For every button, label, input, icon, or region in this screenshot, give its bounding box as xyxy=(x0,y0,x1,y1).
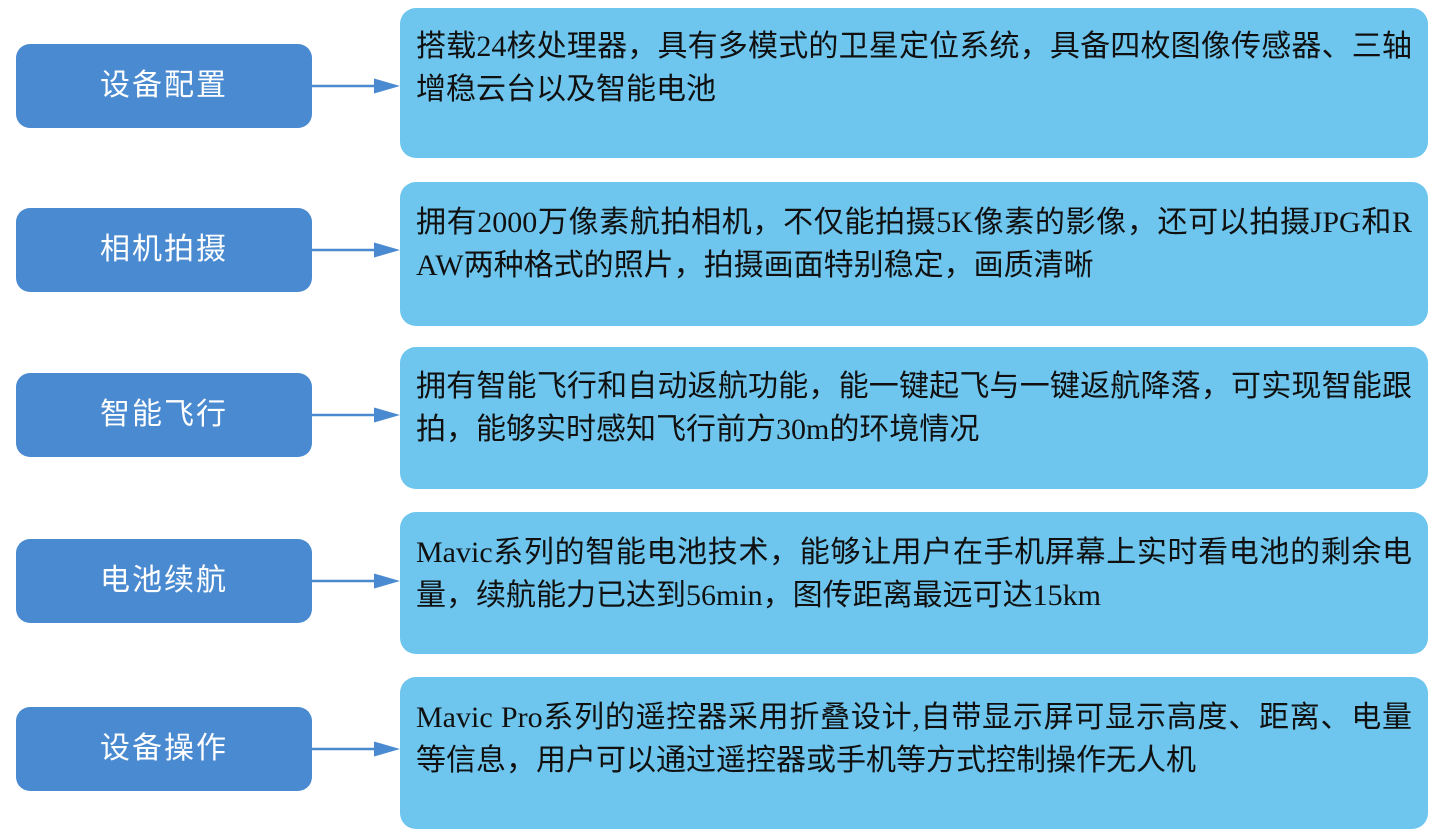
label-box-camera-shooting[interactable]: 相机拍摄 xyxy=(16,208,312,292)
content-box: 拥有智能飞行和自动返航功能，能一键起飞与一键返航降落，可实现智能跟拍，能够实时感… xyxy=(400,347,1428,489)
content-text: 拥有2000万像素航拍相机，不仅能拍摄5K像素的影像，还可以拍摄JPG和RAW两… xyxy=(416,202,1412,287)
content-box: Mavic系列的智能电池技术，能够让用户在手机屏幕上实时看电池的剩余电量，续航能… xyxy=(400,512,1428,654)
label-box-device-configuration[interactable]: 设备配置 xyxy=(16,44,312,128)
content-text: Mavic Pro系列的遥控器采用折叠设计,自带显示屏可显示高度、距离、电量等信… xyxy=(416,697,1412,782)
arrow-connector-icon xyxy=(312,239,400,261)
arrow-connector-icon xyxy=(312,570,400,592)
label-text: 相机拍摄 xyxy=(100,235,228,265)
content-text: Mavic系列的智能电池技术，能够让用户在手机屏幕上实时看电池的剩余电量，续航能… xyxy=(416,532,1412,617)
content-box: 拥有2000万像素航拍相机，不仅能拍摄5K像素的影像，还可以拍摄JPG和RAW两… xyxy=(400,182,1428,326)
content-box: Mavic Pro系列的遥控器采用折叠设计,自带显示屏可显示高度、距离、电量等信… xyxy=(400,677,1428,829)
label-box-device-operation[interactable]: 设备操作 xyxy=(16,707,312,791)
content-text: 拥有智能飞行和自动返航功能，能一键起飞与一键返航降落，可实现智能跟拍，能够实时感… xyxy=(416,366,1412,451)
label-text: 设备操作 xyxy=(100,734,228,764)
arrow-connector-icon xyxy=(312,404,400,426)
arrow-connector-icon xyxy=(312,738,400,760)
label-box-battery-life[interactable]: 电池续航 xyxy=(16,539,312,623)
content-text: 搭载24核处理器，具有多模式的卫星定位系统，具备四枚图像传感器、三轴增稳云台以及… xyxy=(416,26,1412,111)
arrow-connector-icon xyxy=(312,75,400,97)
label-text: 电池续航 xyxy=(100,566,228,596)
diagram-canvas: 搭载24核处理器，具有多模式的卫星定位系统，具备四枚图像传感器、三轴增稳云台以及… xyxy=(0,0,1444,837)
label-text: 智能飞行 xyxy=(100,400,228,430)
label-box-intelligent-flight[interactable]: 智能飞行 xyxy=(16,373,312,457)
content-box: 搭载24核处理器，具有多模式的卫星定位系统，具备四枚图像传感器、三轴增稳云台以及… xyxy=(400,8,1428,158)
label-text: 设备配置 xyxy=(100,71,228,101)
